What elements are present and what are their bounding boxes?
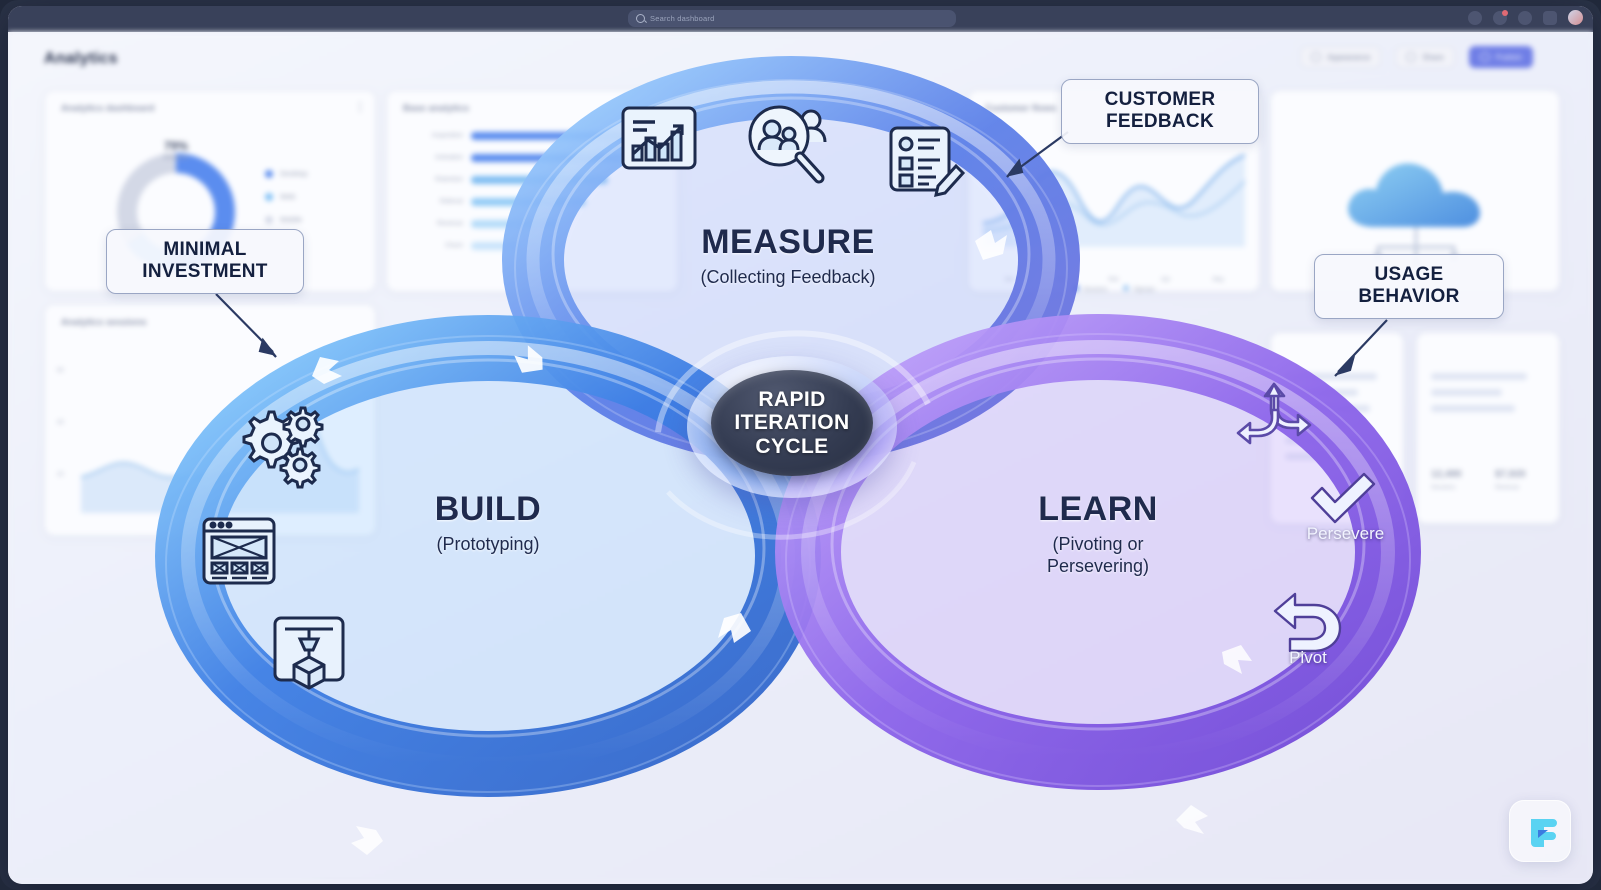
browser-window: Search dashboard Analytics Appearance <box>8 6 1593 884</box>
browser-toolbar: Search dashboard <box>8 6 1593 32</box>
stage-label-build: BUILD (Prototyping) <box>338 492 638 556</box>
build-subtitle: (Prototyping) <box>338 534 638 556</box>
profile-icon[interactable] <box>1518 11 1532 25</box>
measure-title: MEASURE <box>628 225 948 261</box>
search-field[interactable]: Search dashboard <box>628 10 956 27</box>
wireframe-icon <box>201 516 277 586</box>
analytics-chart-icon <box>620 102 698 174</box>
settings-icon[interactable] <box>1543 11 1557 25</box>
survey-form-icon <box>888 124 964 196</box>
search-placeholder: Search dashboard <box>650 14 715 23</box>
user-research-icon <box>743 104 835 184</box>
branch-arrows-icon <box>1236 382 1312 448</box>
gears-icon <box>236 402 328 486</box>
avatar-icon[interactable] <box>1568 10 1583 25</box>
measure-subtitle: (Collecting Feedback) <box>628 267 948 289</box>
center-hub: RAPID ITERATION CYCLE <box>687 356 897 498</box>
learn-title: LEARN <box>948 492 1248 528</box>
screenshot-root: Search dashboard Analytics Appearance <box>0 0 1601 890</box>
search-icon <box>636 14 645 23</box>
check-icon <box>1308 472 1378 530</box>
stage-label-learn: LEARN (Pivoting or Persevering) <box>948 492 1248 578</box>
undo-arrow-icon <box>1273 590 1345 652</box>
build-measure-learn-diagram: Persevere Pivot BUILD (Prototyping) MEAS… <box>8 32 1593 884</box>
hub-core: RAPID ITERATION CYCLE <box>711 370 873 476</box>
callout-customer-feedback: CUSTOMER FEEDBACK <box>1061 79 1259 144</box>
persevere-label: Persevere <box>1278 524 1413 544</box>
stage-label-measure: MEASURE (Collecting Feedback) <box>628 225 948 289</box>
callout-minimal-investment: MINIMAL INVESTMENT <box>106 229 304 294</box>
learn-subtitle: (Pivoting or Persevering) <box>948 534 1248 578</box>
hub-label: RAPID ITERATION CYCLE <box>734 388 849 459</box>
toolbar-icon-group <box>1468 10 1583 25</box>
notification-icon[interactable] <box>1493 11 1507 25</box>
build-title: BUILD <box>338 492 638 528</box>
pivot-label: Pivot <box>1248 648 1368 668</box>
grid-icon[interactable] <box>1468 11 1482 25</box>
callout-usage-behavior: USAGE BEHAVIOR <box>1314 254 1504 319</box>
3d-printer-icon <box>272 615 346 687</box>
brand-logo-watermark <box>1509 800 1571 862</box>
